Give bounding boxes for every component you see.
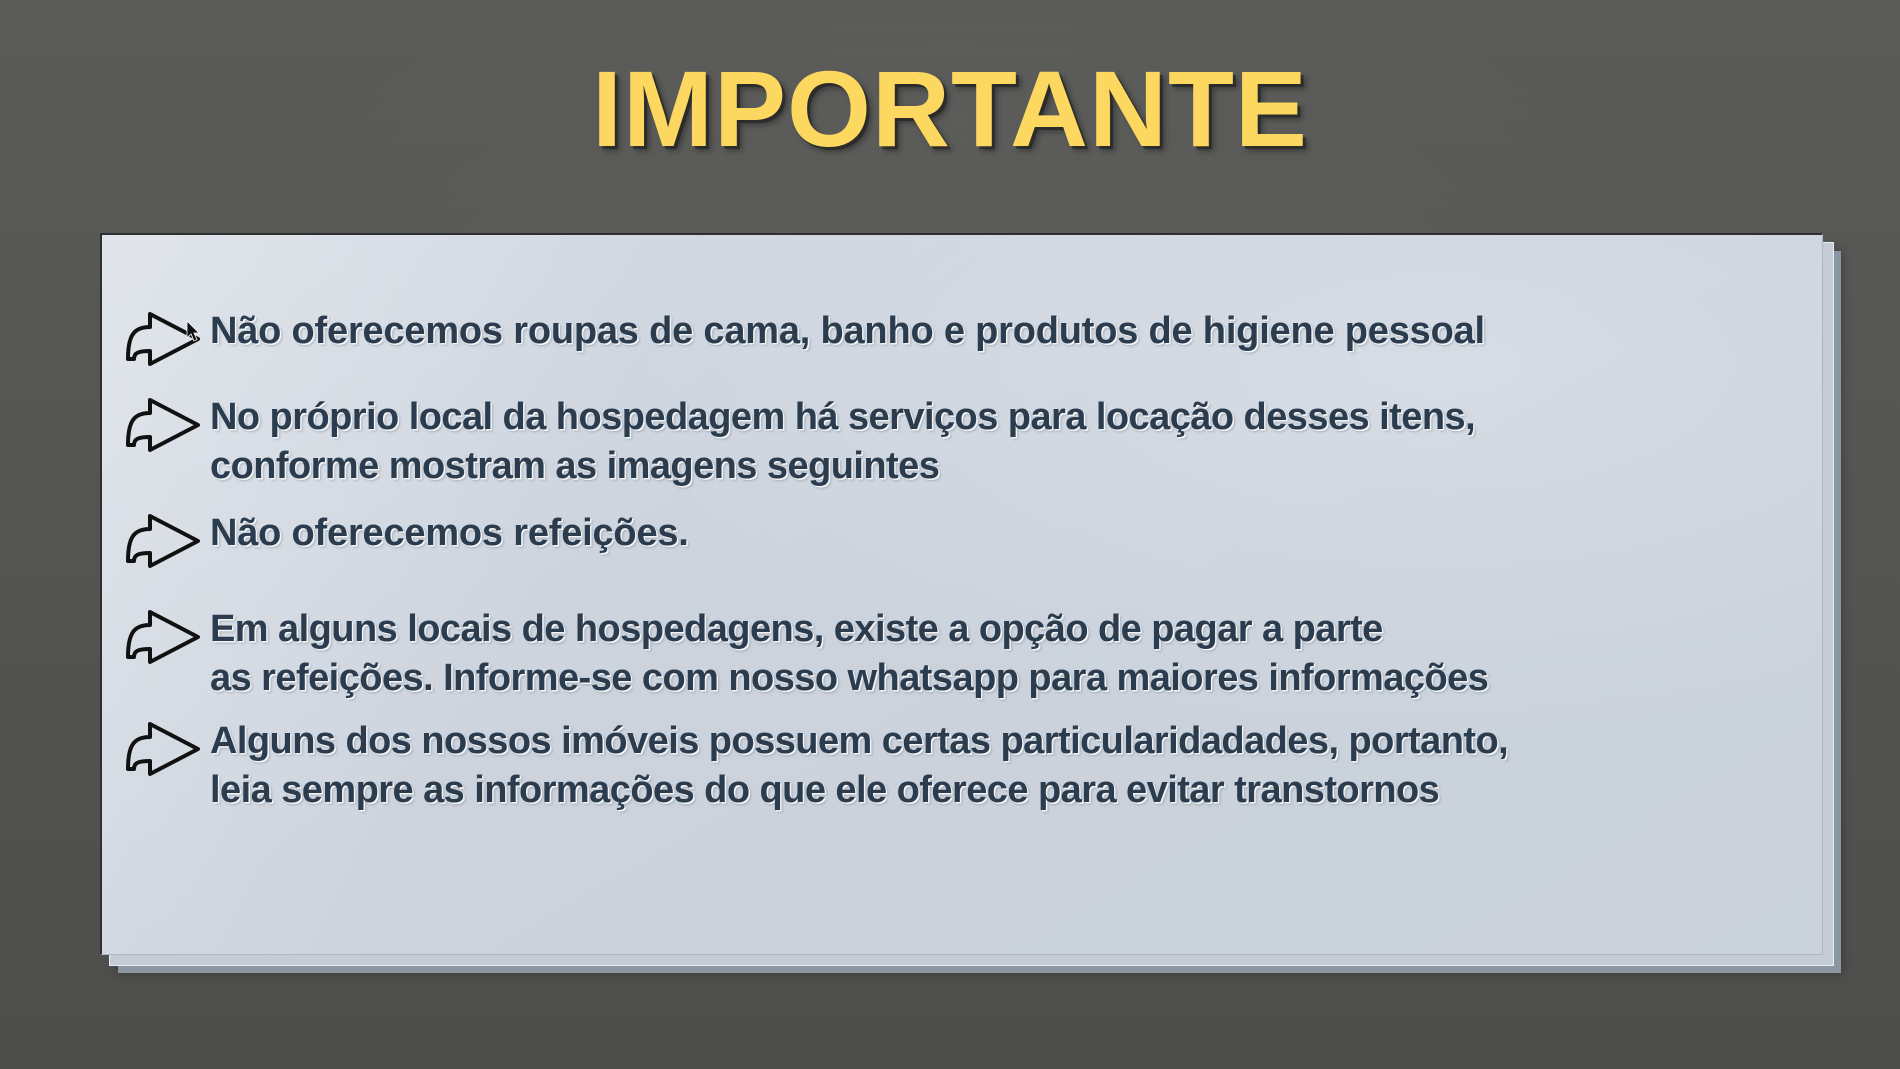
block-arrow-right-icon <box>120 395 206 455</box>
block-arrow-right-icon <box>120 607 206 667</box>
content-panel: Não oferecemos roupas de cama, banho e p… <box>100 233 1823 955</box>
block-arrow-right-icon <box>120 511 206 571</box>
list-item[interactable]: Em alguns locais de hospedagens, existe … <box>120 605 1792 703</box>
bullet-list: Não oferecemos roupas de cama, banho e p… <box>102 235 1822 954</box>
list-item-label: No próprio local da hospedagem há serviç… <box>210 393 1475 491</box>
list-item-label: Não oferecemos refeições. <box>210 509 689 558</box>
list-item-label: Alguns dos nossos imóveis possuem certas… <box>210 717 1508 815</box>
slide-canvas: IMPORTANTE Não oferecemos roupas de cama… <box>0 0 1900 1069</box>
block-arrow-right-icon <box>120 719 206 779</box>
list-item-label: Em alguns locais de hospedagens, existe … <box>210 605 1488 703</box>
list-item[interactable]: Não oferecemos roupas de cama, banho e p… <box>120 307 1792 369</box>
list-item-label: Não oferecemos roupas de cama, banho e p… <box>210 307 1485 356</box>
panel-surface: Não oferecemos roupas de cama, banho e p… <box>100 233 1823 955</box>
list-item[interactable]: Alguns dos nossos imóveis possuem certas… <box>120 717 1792 815</box>
page-title: IMPORTANTE <box>0 52 1900 165</box>
mouse-cursor-icon <box>186 320 202 344</box>
list-item[interactable]: No próprio local da hospedagem há serviç… <box>120 393 1792 491</box>
list-item[interactable]: Não oferecemos refeições. <box>120 509 1792 571</box>
